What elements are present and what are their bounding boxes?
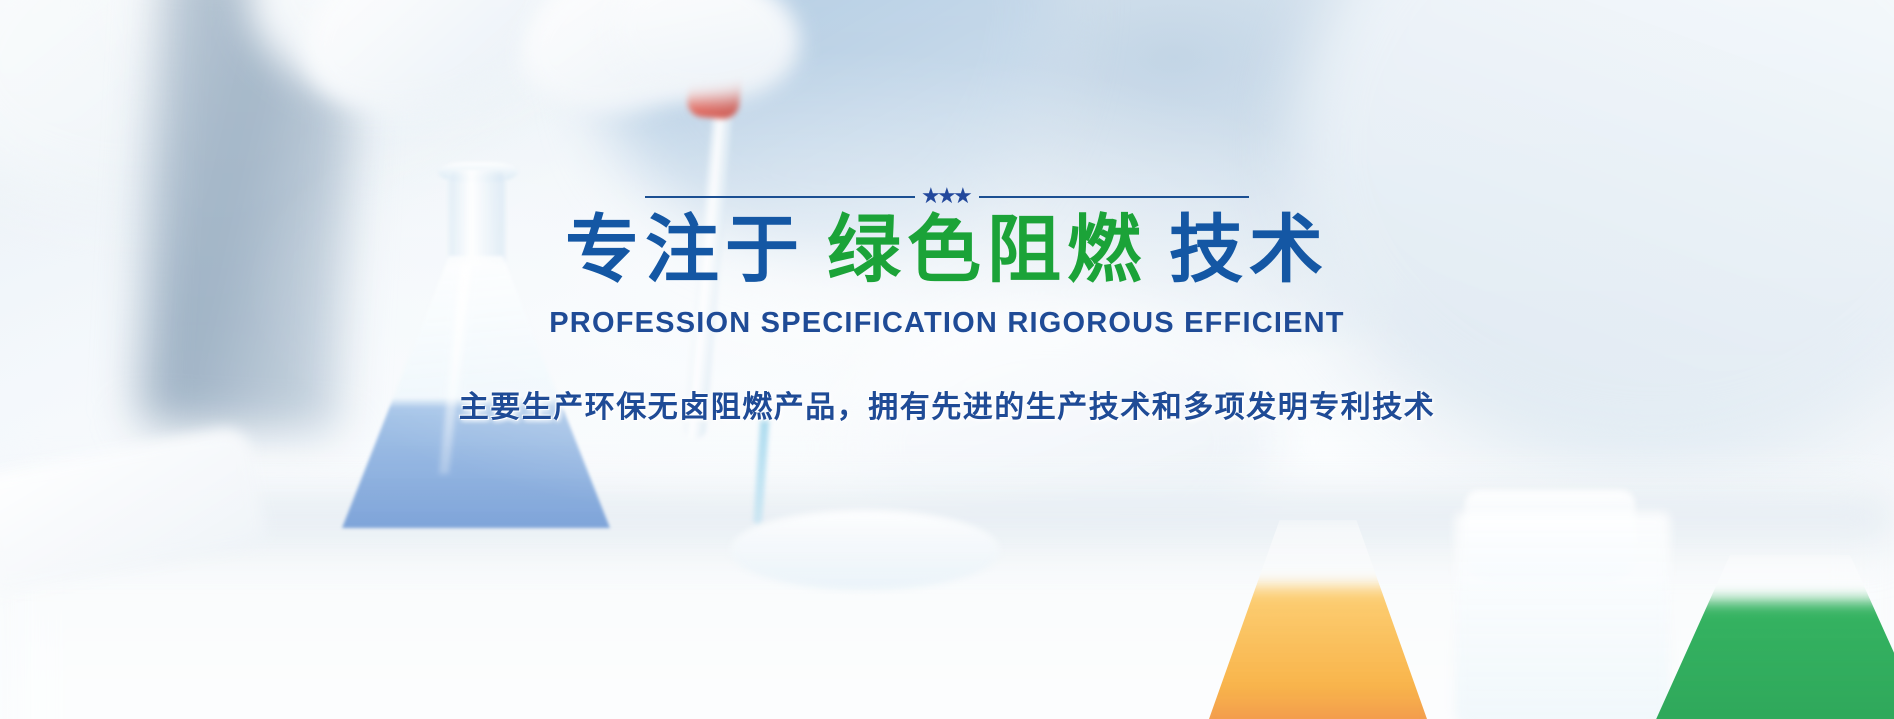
page-title: 专注于 绿色阻燃 技术 (565, 212, 1329, 287)
banner-content: ★ ★ ★ 专注于 绿色阻燃 技术 PROFESSION SPECIFICATI… (0, 196, 1894, 426)
decorative-rule-row: ★ ★ ★ (645, 196, 1249, 198)
headline-segment-focus: 专注于 (565, 212, 805, 287)
banner-subtitle-english: PROFESSION SPECIFICATION RIGOROUS EFFICI… (549, 307, 1344, 340)
banner-tagline-chinese: 主要生产环保无卤阻燃产品，拥有先进的生产技术和多项发明专利技术 (459, 382, 1436, 426)
headline-segment-green-fr: 绿色阻燃 (827, 212, 1147, 287)
rule-right (979, 196, 1249, 198)
hero-banner: ★ ★ ★ 专注于 绿色阻燃 技术 PROFESSION SPECIFICATI… (0, 0, 1894, 719)
rule-left (645, 196, 915, 198)
headline-segment-technology: 技术 (1169, 212, 1329, 287)
